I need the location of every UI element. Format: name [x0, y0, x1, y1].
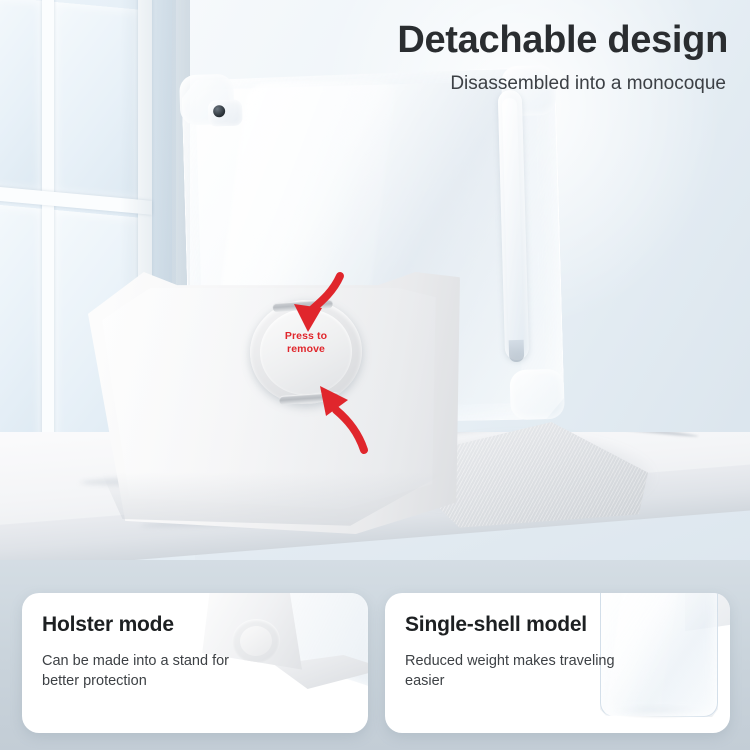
card-holster-mode[interactable]: Holster mode Can be made into a stand fo… [22, 593, 368, 733]
page-subtitle: Disassembled into a monocoque [266, 70, 726, 97]
window-mullion [42, 0, 54, 474]
window-pane [0, 0, 42, 193]
folio-stand: Press to remove [88, 272, 508, 552]
product-infographic: Press to remove Detachable design Disass… [0, 0, 750, 750]
page-title: Detachable design [108, 18, 728, 62]
card-description: Can be made into a stand for better prot… [42, 651, 257, 691]
card-title: Holster mode [42, 613, 174, 637]
press-to-remove-label: Press to remove [243, 330, 369, 355]
card-single-shell-model[interactable]: Single-shell model Reduced weight makes … [385, 593, 730, 733]
corner-bumper [509, 369, 564, 420]
camera-cutout [208, 100, 243, 127]
window-pane [0, 204, 42, 453]
camera-lens-icon [213, 105, 225, 117]
press-label-line-2: remove [243, 343, 369, 356]
card-description: Reduced weight makes traveling easier [405, 651, 620, 691]
stylus-tip [509, 340, 525, 362]
card-title: Single-shell model [405, 613, 587, 637]
feature-cards: Holster mode Can be made into a stand fo… [0, 560, 750, 750]
press-label-line-1: Press to [243, 330, 369, 343]
